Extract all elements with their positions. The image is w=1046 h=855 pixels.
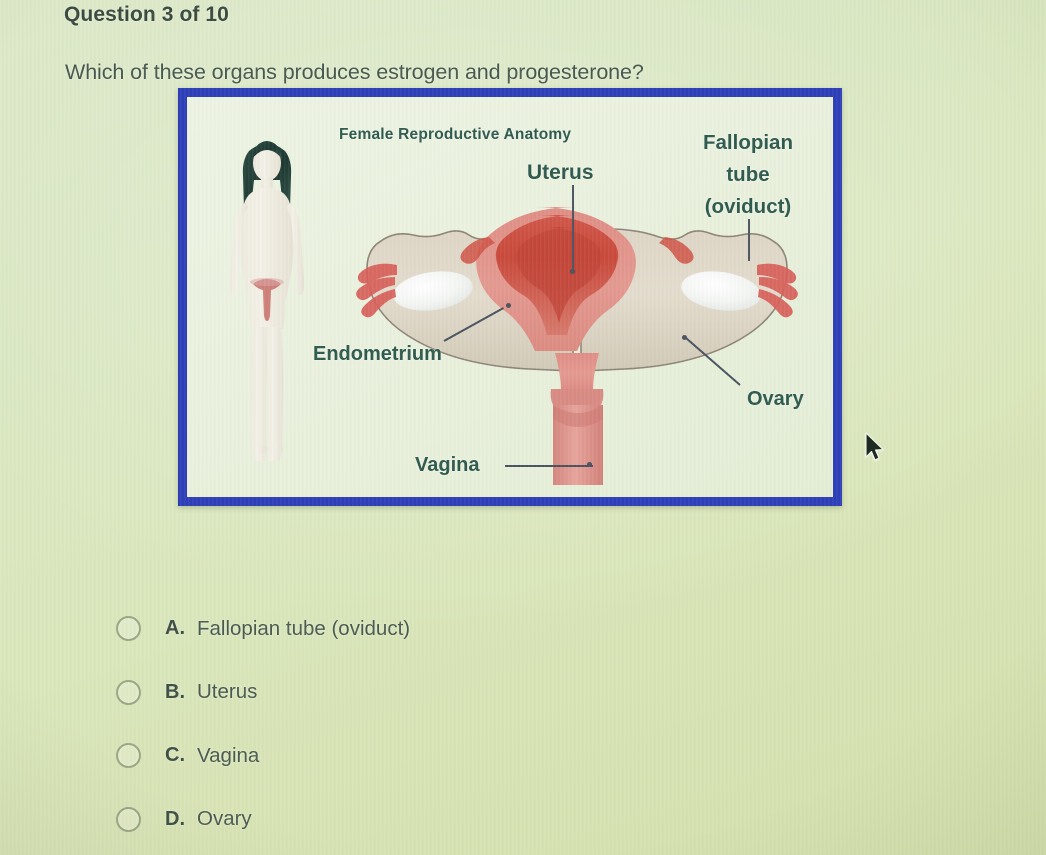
female-body-figure: [215, 129, 319, 465]
label-uterus: Uterus: [527, 161, 594, 185]
uterus-leader-line: [572, 185, 574, 273]
option-a[interactable]: A. Fallopian tube (oviduct): [116, 597, 676, 661]
option-d-letter: D.: [165, 808, 190, 831]
arrow-pointer-icon: [864, 432, 886, 462]
diagram-title: Female Reproductive Anatomy: [339, 126, 571, 144]
question-text: Which of these organs produces estrogen …: [65, 60, 644, 85]
label-fallopian-line-1: Fallopian: [681, 127, 815, 159]
option-b-letter: B.: [165, 681, 190, 704]
vagina-leader-dot: [587, 462, 592, 467]
radio-button-d[interactable]: [116, 807, 141, 832]
radio-button-c[interactable]: [116, 743, 141, 768]
option-b-label: Uterus: [197, 680, 257, 704]
vagina-leader-line: [505, 465, 593, 467]
label-vagina: Vagina: [415, 454, 479, 477]
endometrium-leader-dot: [506, 303, 511, 308]
anatomy-diagram: Female Reproductive Anatomy Uterus Fallo…: [187, 97, 833, 497]
label-ovary: Ovary: [747, 388, 804, 411]
option-d[interactable]: D. Ovary: [116, 788, 676, 852]
option-d-label: Ovary: [197, 807, 252, 831]
ovary-leader-dot: [682, 335, 687, 340]
radio-button-a[interactable]: [116, 616, 141, 641]
option-a-label: Fallopian tube (oviduct): [197, 617, 410, 641]
option-a-letter: A.: [165, 617, 190, 640]
answer-options-list: A. Fallopian tube (oviduct) B. Uterus C.…: [116, 597, 676, 851]
question-counter: Question 3 of 10: [64, 3, 229, 27]
label-fallopian-line-3: (oviduct): [681, 191, 815, 223]
option-c-label: Vagina: [197, 744, 259, 768]
label-fallopian-line-2: tube: [681, 159, 815, 191]
option-c-letter: C.: [165, 744, 190, 767]
option-b[interactable]: B. Uterus: [116, 661, 676, 725]
radio-button-b[interactable]: [116, 680, 141, 705]
label-endometrium: Endometrium: [313, 343, 442, 366]
label-fallopian-tube: Fallopian tube (oviduct): [681, 127, 815, 222]
option-c[interactable]: C. Vagina: [116, 724, 676, 788]
anatomy-diagram-frame: Female Reproductive Anatomy Uterus Fallo…: [178, 88, 842, 506]
fallopian-leader-line: [748, 219, 750, 261]
uterus-leader-dot: [570, 269, 575, 274]
